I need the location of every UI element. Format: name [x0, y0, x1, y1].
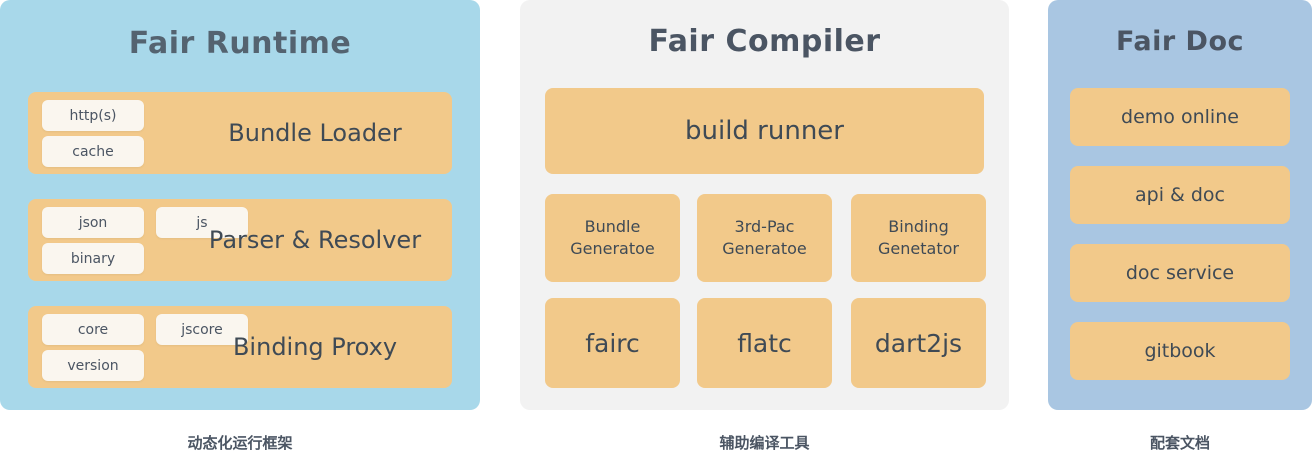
caption-fair-runtime: 动态化运行框架 [0, 432, 480, 453]
block-build-runner: build runner [545, 88, 984, 174]
panel-title-fair-compiler: Fair Compiler [520, 0, 1009, 59]
block-gitbook: gitbook [1070, 322, 1290, 380]
panel-title-fair-runtime: Fair Runtime [0, 0, 480, 61]
chip-http: http(s) [42, 100, 144, 131]
block-api-doc: api & doc [1070, 166, 1290, 224]
column-fair-compiler: Fair Compiler build runner Bundle Genera… [520, 0, 1009, 410]
column-fair-doc: Fair Doc demo online api & doc doc servi… [1048, 0, 1312, 410]
block-flatc: flatc [697, 298, 832, 388]
chip-version: version [42, 350, 144, 381]
panel-title-fair-doc: Fair Doc [1048, 0, 1312, 57]
runtime-row-label-parser-resolver: Parser & Resolver [178, 226, 452, 254]
runtime-row-label-bundle-loader: Bundle Loader [178, 119, 452, 147]
block-doc-service: doc service [1070, 244, 1290, 302]
block-bundle-generator: Bundle Generatoe [545, 194, 680, 282]
block-binding-generator: Binding Genetator [851, 194, 986, 282]
chip-binary: binary [42, 243, 144, 274]
runtime-row-bundle-loader: http(s) cache Bundle Loader [28, 92, 452, 174]
chip-core: core [42, 314, 144, 345]
architecture-diagram: Fair Runtime http(s) cache Bundle Loader… [0, 0, 1312, 474]
caption-fair-doc: 配套文档 [1048, 432, 1312, 453]
panel-fair-runtime: Fair Runtime http(s) cache Bundle Loader… [0, 0, 480, 410]
chip-json: json [42, 207, 144, 238]
runtime-row-parser-resolver: json js binary Parser & Resolver [28, 199, 452, 281]
caption-fair-compiler: 辅助编译工具 [520, 432, 1009, 453]
panel-fair-doc: Fair Doc demo online api & doc doc servi… [1048, 0, 1312, 410]
runtime-row-binding-proxy: core jscore version Binding Proxy [28, 306, 452, 388]
block-dart2js: dart2js [851, 298, 986, 388]
block-fairc: fairc [545, 298, 680, 388]
chip-cache: cache [42, 136, 144, 167]
runtime-row-label-binding-proxy: Binding Proxy [178, 333, 452, 361]
block-demo-online: demo online [1070, 88, 1290, 146]
column-fair-runtime: Fair Runtime http(s) cache Bundle Loader… [0, 0, 480, 410]
block-3rd-pac-generator: 3rd-Pac Generatoe [697, 194, 832, 282]
panel-fair-compiler: Fair Compiler build runner Bundle Genera… [520, 0, 1009, 410]
